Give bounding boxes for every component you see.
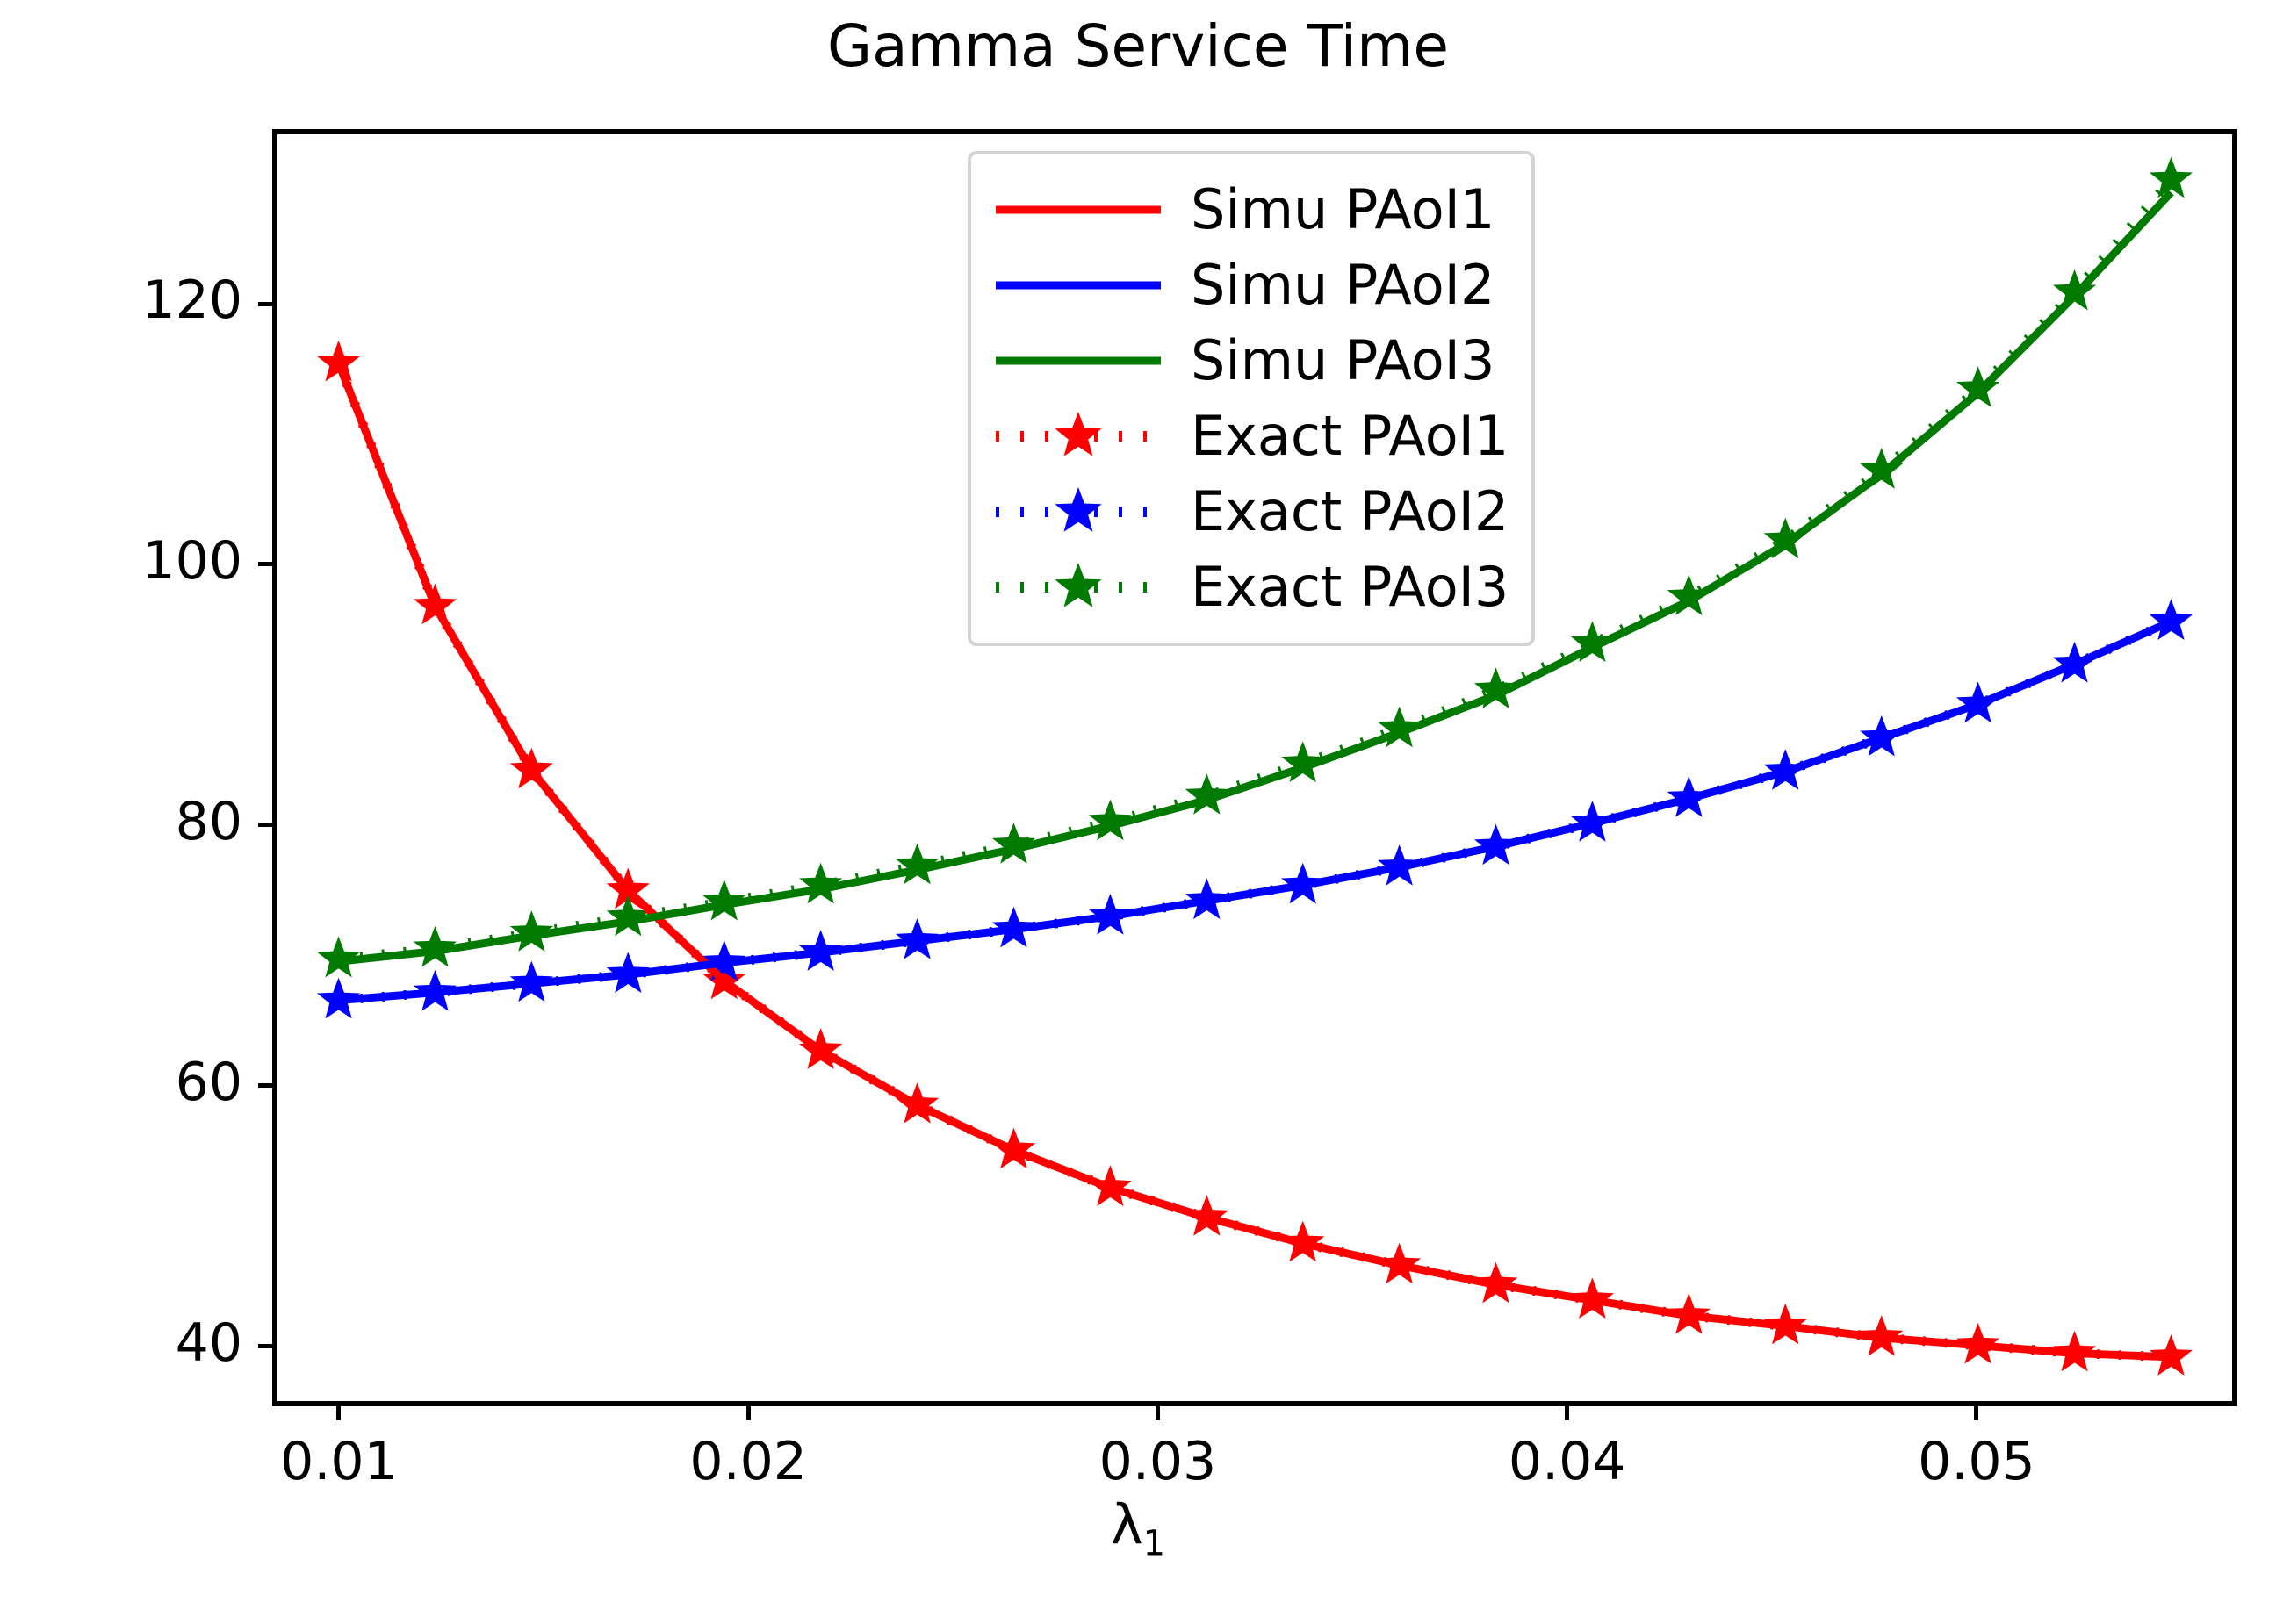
y-axis-tick-label: 100 xyxy=(0,535,242,587)
legend-item-label: Simu PAoI3 xyxy=(1166,334,1495,388)
y-axis-label: PAoI xyxy=(0,561,11,676)
series-exact-paoi2 xyxy=(317,599,2193,1018)
y-axis-tick xyxy=(258,1083,277,1088)
x-axis-tick-label: 0.01 xyxy=(207,1431,471,1492)
series-line xyxy=(339,622,2172,1000)
x-axis-tick xyxy=(1565,1401,1569,1420)
y-axis-tick xyxy=(258,823,277,827)
x-axis-label-text: λ1 xyxy=(1111,1492,1165,1556)
chart-figure: Gamma Service Time 4060801001200.010.020… xyxy=(0,0,2276,1624)
legend-item[interactable]: Simu PAoI2 xyxy=(990,248,1509,323)
legend-item[interactable]: Simu PAoI1 xyxy=(990,172,1509,248)
legend-item[interactable]: Simu PAoI3 xyxy=(990,323,1509,399)
x-axis-tick-label: 0.03 xyxy=(1026,1431,1289,1492)
x-axis-tick xyxy=(336,1401,341,1420)
x-axis-tick xyxy=(1156,1401,1160,1420)
legend-swatch-icon xyxy=(990,550,1166,625)
y-axis-tick-label: 40 xyxy=(0,1317,242,1369)
y-axis-tick xyxy=(258,562,277,566)
legend-item-label: Exact PAoI2 xyxy=(1166,485,1509,539)
chart-title: Gamma Service Time xyxy=(0,12,2276,80)
data-point-marker xyxy=(2150,599,2193,640)
legend-item[interactable]: Exact PAoI1 xyxy=(990,399,1509,474)
x-axis-label-subscript: 1 xyxy=(1143,1523,1165,1563)
y-axis-tick-label: 60 xyxy=(0,1056,242,1109)
legend-item[interactable]: Exact PAoI2 xyxy=(990,474,1509,550)
data-point-marker xyxy=(317,341,360,382)
legend-item-label: Simu PAoI1 xyxy=(1166,183,1495,237)
chart-legend: Simu PAoI1Simu PAoI2Simu PAoI3Exact PAoI… xyxy=(968,151,1535,646)
y-axis-tick xyxy=(258,1344,277,1348)
legend-swatch-icon xyxy=(990,323,1166,399)
y-axis-tick-label: 80 xyxy=(0,795,242,848)
y-axis-tick-label: 120 xyxy=(0,274,242,327)
x-axis-tick-label: 0.04 xyxy=(1436,1431,1699,1492)
series-line xyxy=(339,622,2172,1000)
legend-swatch-icon xyxy=(990,474,1166,550)
legend-item[interactable]: Exact PAoI3 xyxy=(990,550,1509,625)
series-simu-paoi2 xyxy=(339,622,2172,1000)
legend-item-label: Exact PAoI3 xyxy=(1166,560,1509,614)
legend-item-label: Exact PAoI1 xyxy=(1166,409,1509,463)
y-axis-tick xyxy=(258,302,277,306)
legend-swatch-icon xyxy=(990,172,1166,248)
x-axis-tick-label: 0.05 xyxy=(1845,1431,2108,1492)
legend-swatch-icon xyxy=(990,248,1166,323)
x-axis-tick-label: 0.02 xyxy=(616,1431,880,1492)
legend-item-label: Simu PAoI2 xyxy=(1166,258,1495,313)
legend-swatch-icon xyxy=(990,399,1166,474)
x-axis-tick xyxy=(1974,1401,1978,1420)
x-axis-label: λ1 xyxy=(0,1492,2276,1563)
x-axis-tick xyxy=(746,1401,751,1420)
